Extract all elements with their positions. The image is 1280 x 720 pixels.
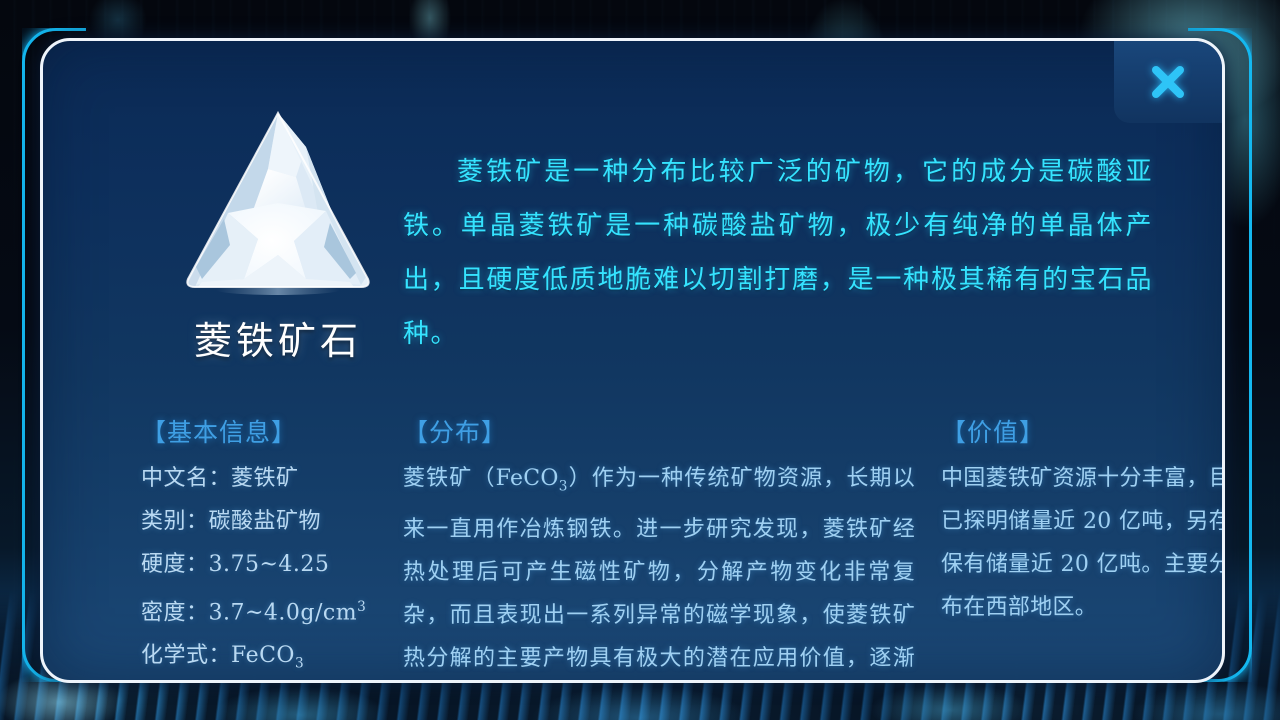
basic-info-row: 化学式：FeCO3 (141, 634, 391, 683)
row-label: 化学式： (141, 643, 231, 668)
basic-info-row: 密度：3.7~4.0g/cm3 (141, 586, 391, 634)
row-superscript: 3 (357, 599, 366, 615)
distribution-text: 菱铁矿（FeCO3）作为一种传统矿物资源，长期以来一直用作冶炼钢铁。进一步研究发… (403, 457, 915, 683)
basic-info-row: 类别：碳酸盐矿物 (141, 500, 391, 543)
row-value: 3.75~4.25 (209, 552, 330, 577)
distribution-heading: 【分布】 (403, 413, 915, 449)
row-label: 硬度： (141, 552, 209, 577)
distribution-text-before: 菱铁矿（FeCO (403, 466, 559, 491)
column-basic-info: 【基本信息】 中文名：菱铁矿 类别：碳酸盐矿物 硬度：3.75~4.25 密度：… (141, 413, 391, 683)
row-value: 3.7~4.0g/cm (209, 600, 358, 625)
close-button[interactable] (1114, 41, 1222, 123)
close-icon (1145, 59, 1191, 105)
mineral-info-dialog: 菱铁矿石 菱铁矿是一种分布比较广泛的矿物，它的成分是碳酸亚铁。单晶菱铁矿是一种碳… (40, 38, 1225, 683)
column-value: 【价值】 中国菱铁矿资源十分丰富，目已探明储量近 20 亿吨，另存保有储量近 2… (941, 413, 1225, 629)
row-label: 中文名： (141, 466, 231, 491)
formula-subscript: 3 (559, 478, 568, 494)
value-heading: 【价值】 (941, 413, 1225, 449)
row-value: 碳酸盐矿物 (209, 509, 322, 534)
basic-info-row: 中文名：菱铁矿 (141, 457, 391, 500)
row-value: FeCO (231, 643, 295, 668)
column-distribution: 【分布】 菱铁矿（FeCO3）作为一种传统矿物资源，长期以来一直用作冶炼钢铁。进… (403, 413, 915, 683)
gem-title: 菱铁矿石 (143, 310, 413, 365)
value-text: 中国菱铁矿资源十分丰富，目已探明储量近 20 亿吨，另存保有储量近 20 亿吨。… (941, 457, 1225, 629)
distribution-text-after: ）作为一种传统矿物资源，长期以来一直用作冶炼钢铁。进一步研究发现，菱铁矿经热处理… (403, 466, 915, 683)
row-value: 菱铁矿 (231, 466, 299, 491)
basic-info-heading: 【基本信息】 (141, 413, 391, 449)
row-label: 类别： (141, 509, 209, 534)
trillion-cut-gemstone-icon (143, 107, 413, 308)
row-subscript: 3 (295, 656, 304, 672)
gem-showcase: 菱铁矿石 (143, 107, 413, 365)
basic-info-row: 硬度：3.75~4.25 (141, 543, 391, 586)
mineral-description: 菱铁矿是一种分布比较广泛的矿物，它的成分是碳酸亚铁。单晶菱铁矿是一种碳酸盐矿物，… (403, 145, 1153, 361)
row-label: 密度： (141, 600, 209, 625)
